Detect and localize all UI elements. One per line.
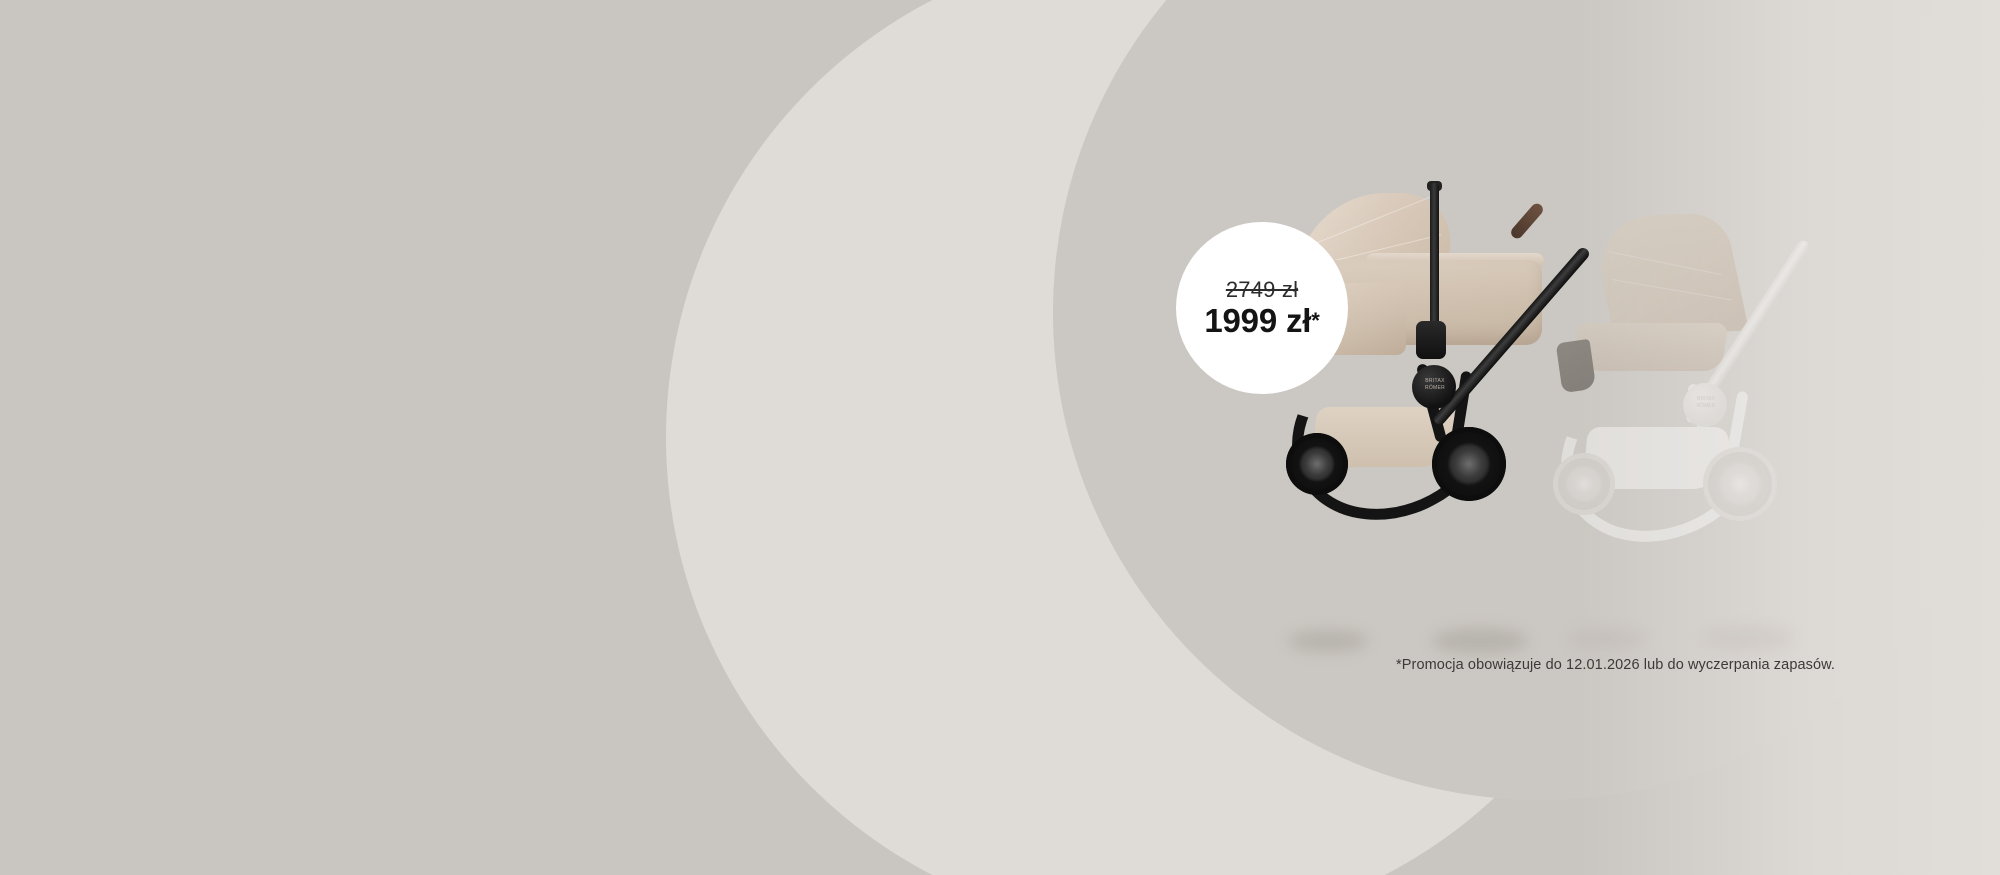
- canopy-rib: [1310, 194, 1436, 246]
- canopy-rib: [1612, 279, 1732, 300]
- wheel-hub: [1727, 471, 1752, 496]
- old-price: 2749 zł: [1226, 278, 1298, 302]
- new-price-value: 1999 zł: [1204, 302, 1311, 339]
- wheel-rear: [1286, 433, 1348, 495]
- wheel-hub: [1306, 453, 1327, 474]
- promo-banner: BRITAX RÖMER: [0, 0, 2000, 875]
- price-asterisk: *: [1311, 308, 1319, 333]
- wheel-front: [1432, 427, 1506, 501]
- product-stage: BRITAX RÖMER: [1280, 175, 1980, 635]
- new-price: 1999 zł*: [1204, 303, 1319, 339]
- carry-handle: [1430, 183, 1439, 331]
- wheel-front: [1703, 447, 1777, 521]
- product-image-stroller-carrycot[interactable]: BRITAX RÖMER: [1280, 175, 1590, 635]
- canopy-rib: [1608, 251, 1722, 275]
- brand-logo: BRITAX RÖMER: [1422, 378, 1448, 394]
- wheel-hub: [1456, 451, 1481, 476]
- seat-canopy: [1589, 213, 1749, 336]
- push-handle-grip: [1509, 201, 1546, 241]
- price-badge[interactable]: 2749 zł 1999 zł*: [1176, 222, 1348, 394]
- brand-logo: BRITAX RÖMER: [1693, 396, 1719, 410]
- promo-footnote: *Promocja obowiązuje do 12.01.2026 lub d…: [1396, 655, 1835, 675]
- product-image-stroller-seat-unit[interactable]: BRITAX RÖMER: [1565, 215, 1865, 635]
